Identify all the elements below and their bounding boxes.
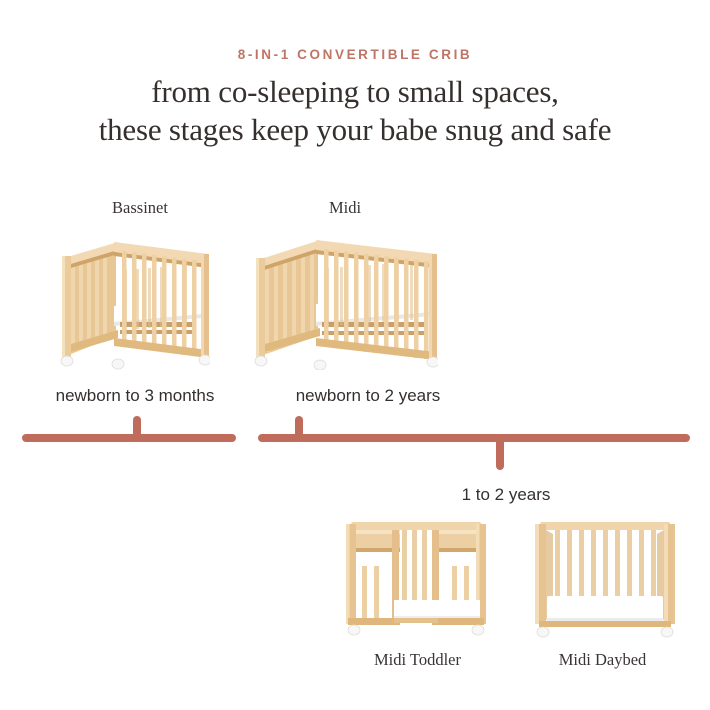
product-label-midi-daybed: Midi Daybed (520, 650, 685, 670)
product-label-midi: Midi (250, 198, 440, 218)
crib-illustration-midi (252, 218, 438, 370)
crib-illustration-midi-toddler (336, 508, 494, 640)
crib-illustration-bassinet (58, 218, 210, 370)
caption-midi: newborn to 2 years (262, 386, 474, 406)
headline-line-2: these stages keep your babe snug and saf… (0, 111, 710, 149)
crib-illustration-midi-daybed (525, 508, 683, 640)
connector-bar-right (258, 434, 690, 442)
product-label-bassinet: Bassinet (40, 198, 240, 218)
infographic-root: 8-IN-1 CONVERTIBLE CRIB from co-sleeping… (0, 0, 710, 710)
eyebrow-text: 8-IN-1 CONVERTIBLE CRIB (0, 47, 710, 62)
product-label-midi-toddler: Midi Toddler (335, 650, 500, 670)
caption-bassinet: newborn to 3 months (15, 386, 255, 406)
caption-branch: 1 to 2 years (406, 485, 606, 505)
page-title: from co-sleeping to small spaces, these … (0, 73, 710, 149)
connector-bar-left (22, 434, 236, 442)
headline-line-1: from co-sleeping to small spaces, (151, 74, 558, 109)
connector-stem-branch-down (496, 438, 504, 470)
